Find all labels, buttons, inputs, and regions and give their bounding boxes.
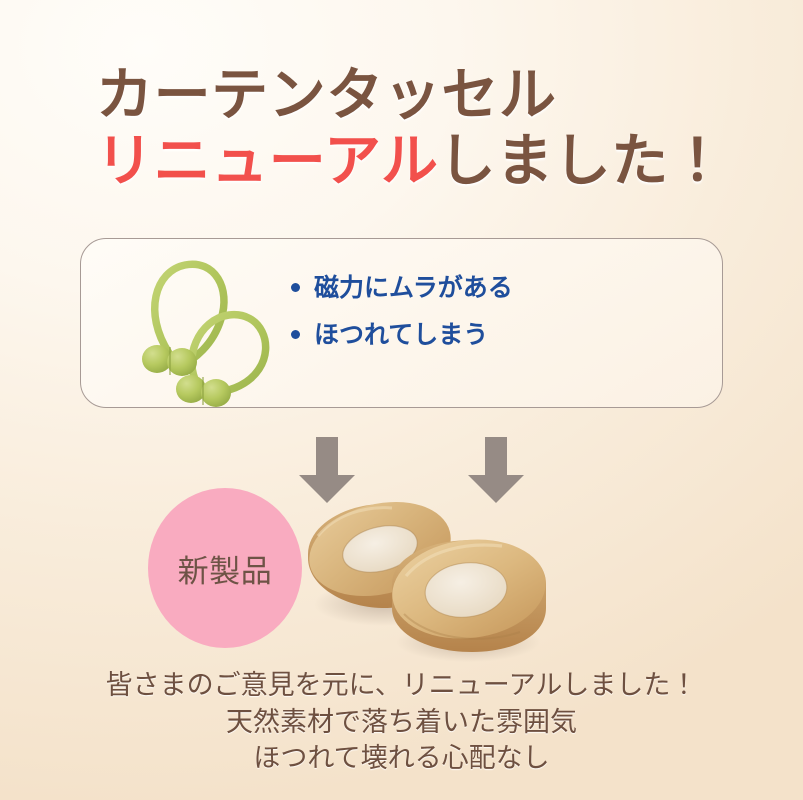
list-item-label: 磁力にムラがある — [314, 275, 513, 300]
tassel-bead-right — [176, 375, 231, 407]
new-product-image — [288, 492, 568, 662]
problem-card: 磁力にムラがある ほつれてしまう — [80, 238, 723, 408]
bullet-dot-icon — [291, 330, 300, 339]
closing-copy-line-1: 皆さまのご意見を元に、リニューアルしました！ — [0, 668, 803, 705]
bullet-dot-icon — [291, 283, 300, 292]
headline-line-1: カーテンタッセル — [96, 62, 756, 128]
headline-tail-text: しました！ — [439, 128, 727, 194]
list-item-label: ほつれてしまう — [314, 322, 488, 347]
list-item: ほつれてしまう — [291, 322, 513, 347]
closing-copy-line-3: ほつれて壊れる心配なし — [0, 741, 803, 778]
headline-line-2: リニューアルしました！ — [96, 128, 756, 194]
status-badge-label: 新製品 — [178, 546, 273, 591]
promo-poster: カーテンタッセル リニューアルしました！ — [0, 0, 803, 800]
closing-copy-line-2: 天然素材で落ち着いた雰囲気 — [0, 705, 803, 742]
headline-accent-text: リニューアル — [96, 128, 439, 194]
old-tassel-image — [103, 241, 303, 407]
closing-copy: 皆さまのご意見を元に、リニューアルしました！ 天然素材で落ち着いた雰囲気 ほつれ… — [0, 668, 803, 778]
problem-list: 磁力にムラがある ほつれてしまう — [291, 275, 513, 369]
status-badge: 新製品 — [148, 488, 302, 648]
tassel-bead-left — [142, 345, 197, 376]
list-item: 磁力にムラがある — [291, 275, 513, 300]
page-title: カーテンタッセル リニューアルしました！ — [96, 62, 756, 194]
